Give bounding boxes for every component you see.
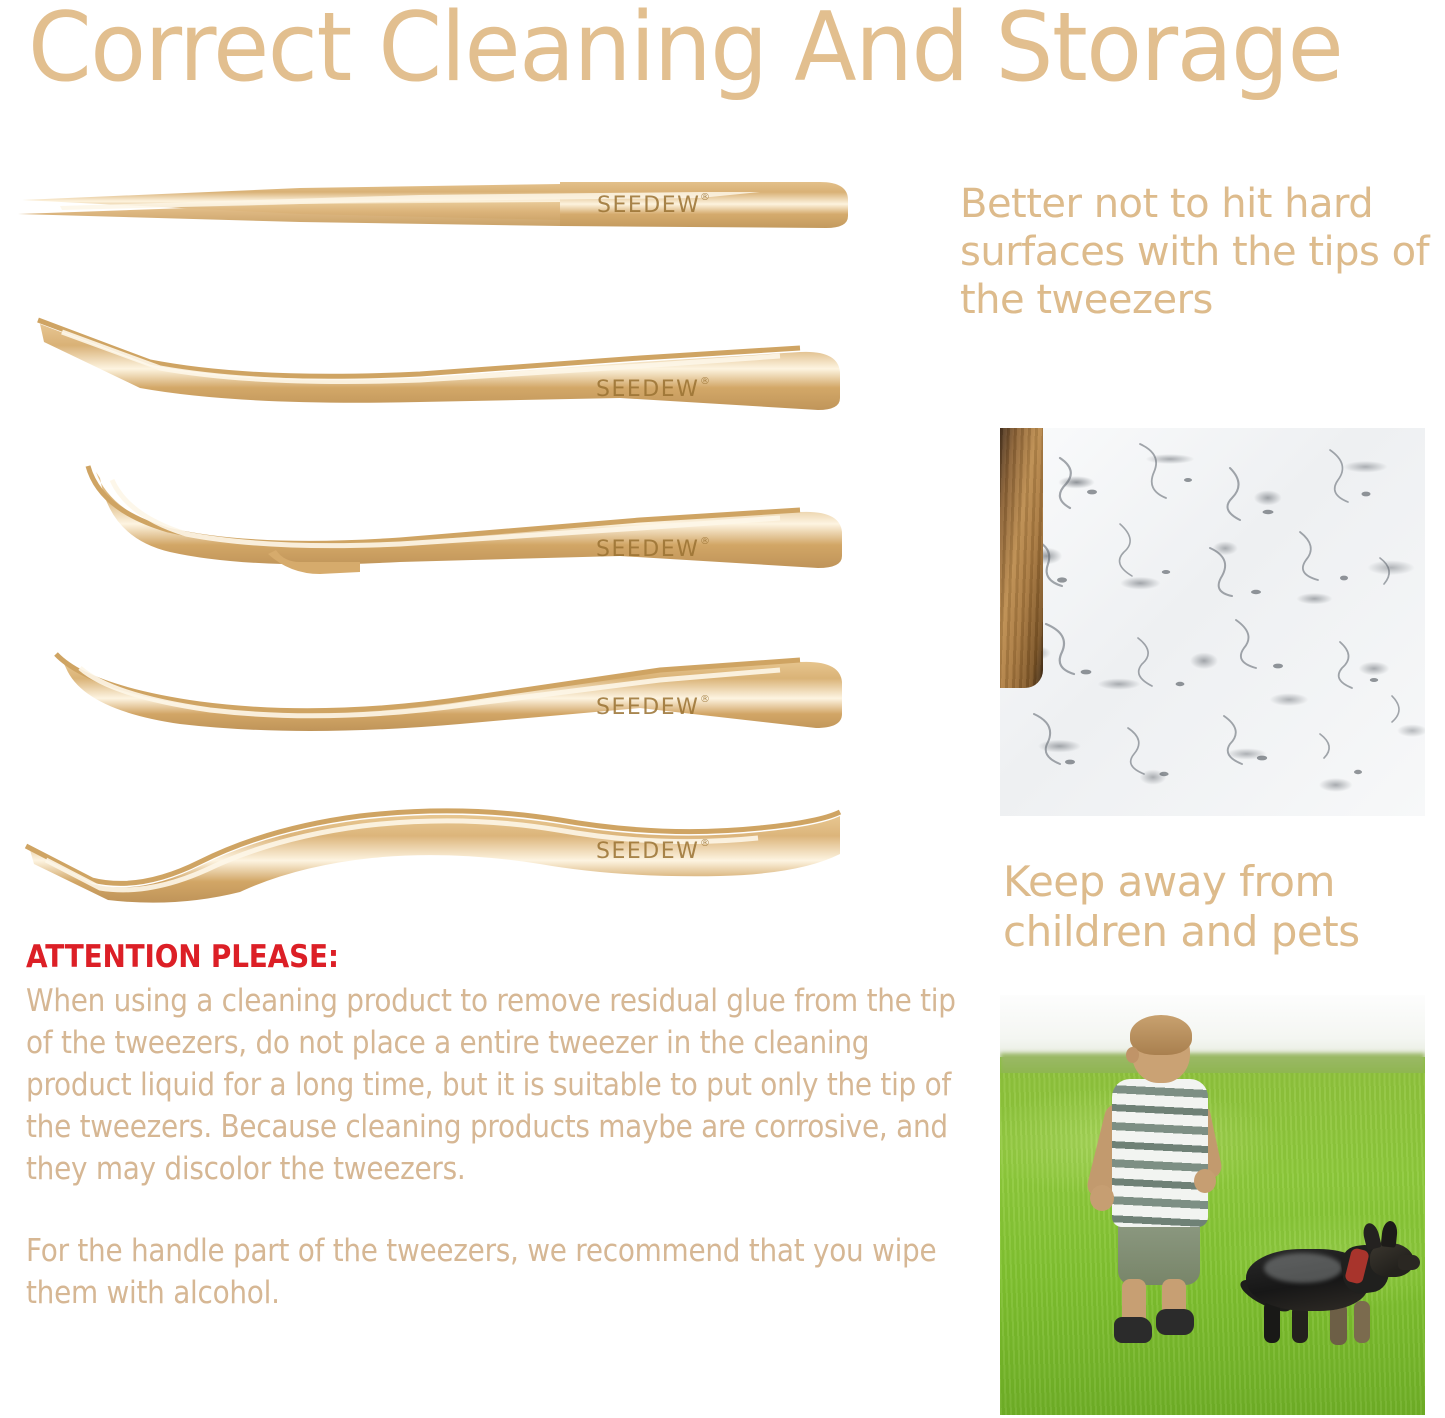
brand-engraving-3: SEEDEW (596, 537, 699, 562)
child-shorts (1118, 1217, 1200, 1285)
dog-front-leg-near (1354, 1301, 1370, 1343)
brand-engraving-2: SEEDEW (596, 377, 699, 402)
child-left-shoe (1114, 1317, 1152, 1343)
svg-text:®: ® (700, 694, 710, 705)
dog-ear-right (1381, 1220, 1399, 1247)
svg-text:®: ® (700, 376, 710, 387)
child-and-dog-photo (1000, 995, 1425, 1415)
callout-hard-surfaces: Better not to hit hard surfaces with the… (960, 180, 1440, 324)
attention-heading: ATTENTION PLEASE: (26, 938, 881, 976)
brand-engraving-5: SEEDEW (596, 839, 699, 864)
child-figure (1088, 1007, 1218, 1347)
svg-text:®: ® (700, 536, 710, 547)
brand-engraving-1: SEEDEW (597, 193, 700, 218)
attention-block: ATTENTION PLEASE: When using a cleaning … (26, 938, 976, 1314)
marble-veining (1000, 428, 1425, 816)
marble-counter-tweezer-photo (1000, 428, 1425, 816)
tweezer-curved-boot: SEEDEW ® (0, 450, 880, 585)
child-right-shoe (1156, 1309, 1194, 1335)
svg-text:®: ® (700, 838, 710, 849)
wooden-board (1000, 428, 1043, 688)
attention-paragraph-2: For the handle part of the tweezers, we … (26, 1230, 971, 1314)
child-hair (1130, 1015, 1192, 1055)
tweezer-s-curve-boot: SEEDEW ® (0, 788, 880, 908)
dog-figure (1238, 1219, 1418, 1379)
svg-text:®: ® (700, 192, 710, 203)
attention-body: When using a cleaning product to remove … (26, 980, 971, 1314)
tweezer-lineup: SEEDEW ® SEEDEW (0, 150, 900, 940)
brand-engraving-4: SEEDEW (596, 695, 699, 720)
callout-keep-away: Keep away from children and pets (1003, 857, 1443, 957)
dog-back-highlight (1264, 1253, 1342, 1283)
attention-paragraph-1: When using a cleaning product to remove … (26, 980, 971, 1190)
poster-root: Correct Cleaning And Storage (0, 0, 1445, 1418)
child-ear (1126, 1047, 1139, 1063)
child-striped-shirt (1112, 1079, 1208, 1227)
dog-snout (1398, 1255, 1420, 1270)
right-column: Better not to hit hard surfaces with the… (955, 0, 1445, 1418)
tweezer-curved-volume: SEEDEW ® (0, 642, 880, 752)
tweezer-angled-45: SEEDEW ® (0, 306, 880, 416)
child-left-hand (1090, 1185, 1114, 1211)
tweezer-straight-pointed: SEEDEW ® (0, 170, 880, 260)
child-right-hand (1194, 1169, 1216, 1193)
